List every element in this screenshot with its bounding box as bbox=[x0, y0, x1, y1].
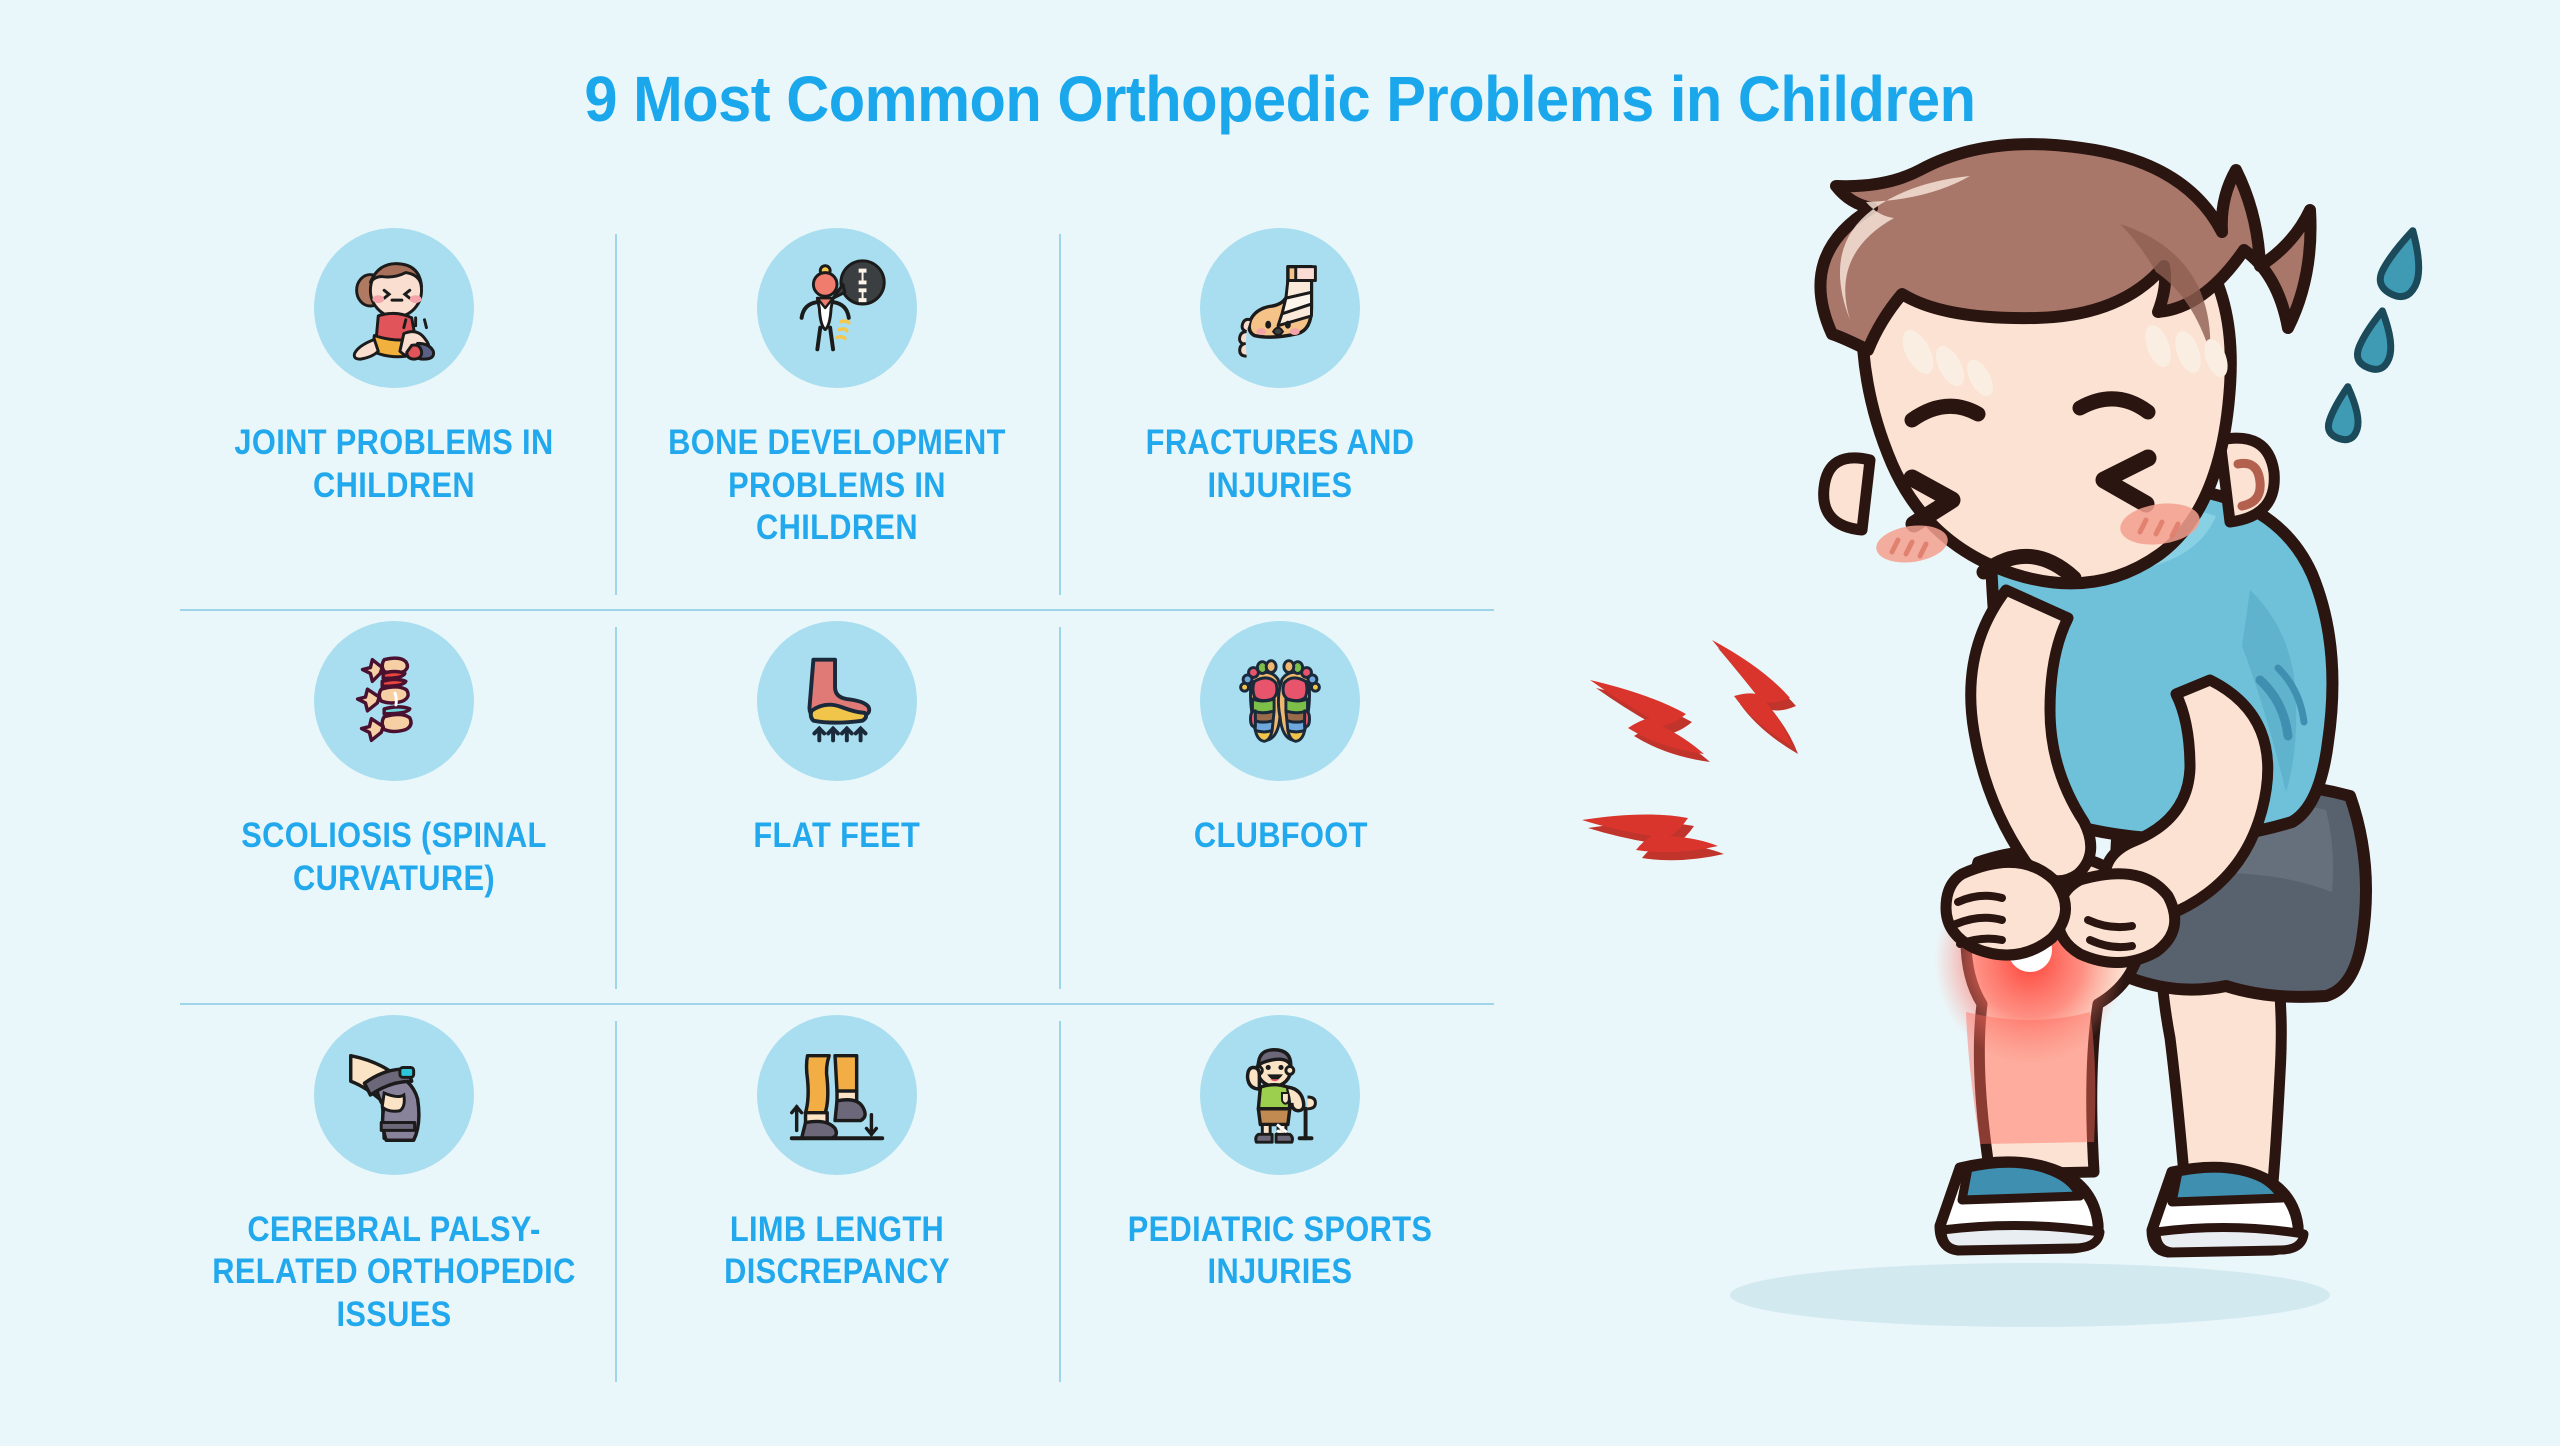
grid-item-label: FRACTURES AND INJURIES bbox=[1091, 422, 1469, 507]
grid-item-label: FLAT FEET bbox=[754, 815, 921, 858]
child-bone-xray-icon bbox=[757, 228, 917, 388]
pain-bolts bbox=[1582, 640, 1798, 860]
girl-holding-knee-icon bbox=[314, 228, 474, 388]
grid-item-label: LIMB LENGTH DISCREPANCY bbox=[648, 1209, 1026, 1294]
grid-item-label: CLUBFOOT bbox=[1193, 815, 1367, 858]
sweat-drops bbox=[2325, 227, 2437, 443]
grid-item-fractures[interactable]: FRACTURES AND INJURIES bbox=[1059, 218, 1502, 611]
grid-item-label: BONE DEVELOPMENT PROBLEMS IN CHILDREN bbox=[648, 422, 1026, 550]
grid-item-clubfoot[interactable]: CLUBFOOT bbox=[1059, 611, 1502, 1004]
flat-foot-insole-icon bbox=[757, 621, 917, 781]
grid-item-label: SCOLIOSIS (SPINAL CURVATURE) bbox=[204, 815, 582, 900]
grid-item-label: CEREBRAL PALSY-RELATED ORTHOPEDIC ISSUES bbox=[204, 1209, 582, 1337]
bandaged-foot-icon bbox=[1200, 228, 1360, 388]
grid-item-bone-development[interactable]: BONE DEVELOPMENT PROBLEMS IN CHILDREN bbox=[615, 218, 1058, 611]
grid-item-limb-length[interactable]: LIMB LENGTH DISCREPANCY bbox=[615, 1005, 1058, 1398]
foot-soles-icon bbox=[1200, 621, 1360, 781]
boy-with-knee-pain-illustration bbox=[1560, 120, 2520, 1380]
knee-brace-icon bbox=[314, 1015, 474, 1175]
grid-item-sports-injuries[interactable]: PEDIATRIC SPORTS INJURIES bbox=[1059, 1005, 1502, 1398]
unequal-legs-icon bbox=[757, 1015, 917, 1175]
problems-grid: JOINT PROBLEMS IN CHILDREN bbox=[172, 218, 1502, 1398]
infographic-root: 9 Most Common Orthopedic Problems in Chi… bbox=[0, 0, 2560, 1446]
grid-item-label: PEDIATRIC SPORTS INJURIES bbox=[1091, 1209, 1469, 1294]
grid-item-cerebral-palsy[interactable]: CEREBRAL PALSY-RELATED ORTHOPEDIC ISSUES bbox=[172, 1005, 615, 1398]
boy-with-crutch-icon bbox=[1200, 1015, 1360, 1175]
grid-item-flat-feet[interactable]: FLAT FEET bbox=[615, 611, 1058, 1004]
grid-item-scoliosis[interactable]: SCOLIOSIS (SPINAL CURVATURE) bbox=[172, 611, 615, 1004]
grid-item-label: JOINT PROBLEMS IN CHILDREN bbox=[204, 422, 582, 507]
spine-vertebrae-icon bbox=[314, 621, 474, 781]
grid-item-joint-problems[interactable]: JOINT PROBLEMS IN CHILDREN bbox=[172, 218, 615, 611]
